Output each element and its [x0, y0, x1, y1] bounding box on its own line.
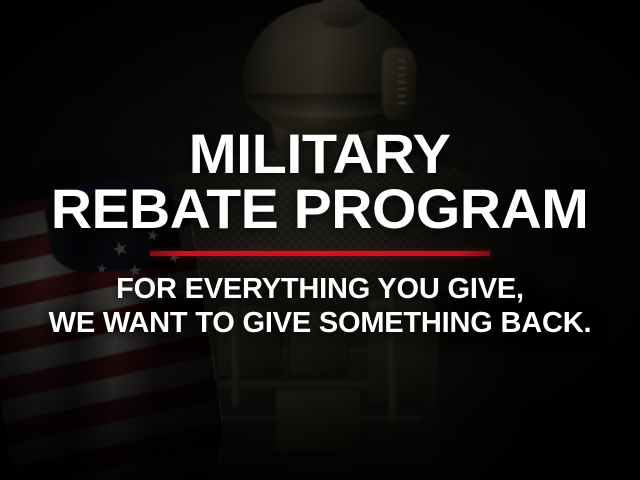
- headline-block: MILITARY REBATE PROGRAM: [56, 126, 583, 237]
- military-rebate-banner: ★ ★ ★ ★ ★ ★ MILITARY REBATE PROGRAM FOR …: [0, 0, 640, 480]
- headline-line-1: MILITARY: [49, 126, 592, 181]
- subtitle: FOR EVERYTHING YOU GIVE, WE WANT TO GIVE…: [49, 273, 592, 341]
- headline-line-2: REBATE PROGRAM: [51, 181, 589, 236]
- red-divider: [150, 251, 490, 256]
- page-title: MILITARY REBATE PROGRAM: [56, 126, 583, 237]
- banner-content: MILITARY REBATE PROGRAM FOR EVERYTHING Y…: [0, 0, 640, 480]
- subtitle-line-2: WE WANT TO GIVE SOMETHING BACK.: [49, 307, 592, 341]
- subtitle-line-1: FOR EVERYTHING YOU GIVE,: [49, 273, 592, 307]
